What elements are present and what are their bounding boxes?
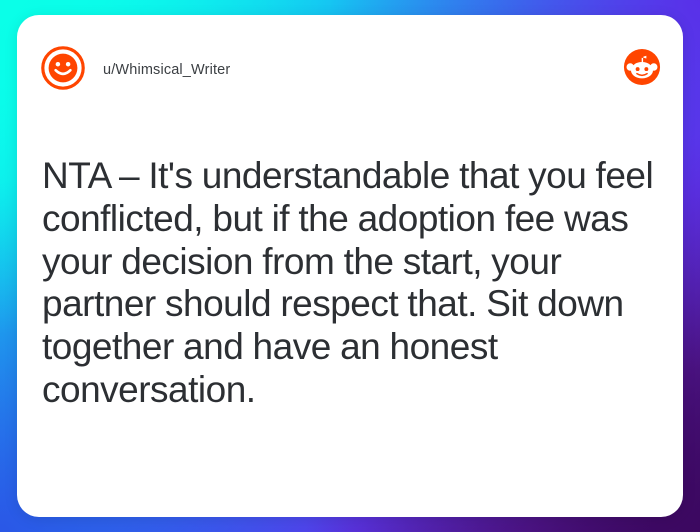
reddit-comment-card: u/Whimsical_Writer NTA – It's un: [17, 15, 683, 517]
comment-text: NTA – It's understandable that you feel …: [42, 155, 657, 412]
screenshot-stage: u/Whimsical_Writer NTA – It's un: [0, 0, 700, 532]
card-header: u/Whimsical_Writer: [17, 15, 683, 101]
smiley-face-avatar-icon[interactable]: [41, 46, 85, 90]
reddit-snoo-logo-icon[interactable]: [623, 48, 661, 86]
username-label: u/Whimsical_Writer: [103, 60, 230, 80]
